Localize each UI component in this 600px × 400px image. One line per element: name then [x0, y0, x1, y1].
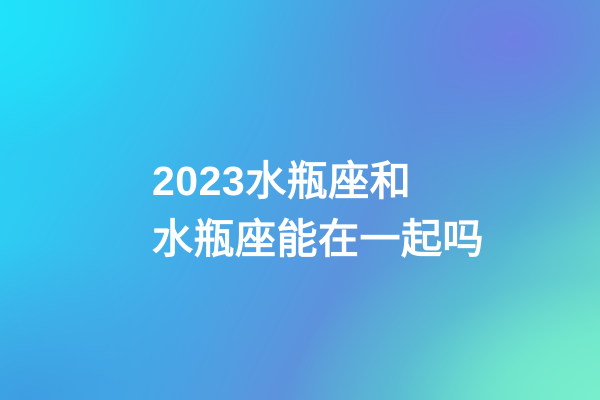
- cover-image-canvas: 2023水瓶座和 水瓶座能在一起吗: [0, 0, 600, 400]
- cover-title-line-1: 2023水瓶座和: [152, 152, 482, 210]
- cover-title-line-2: 水瓶座能在一起吗: [152, 210, 482, 268]
- cover-title: 2023水瓶座和 水瓶座能在一起吗: [152, 152, 482, 268]
